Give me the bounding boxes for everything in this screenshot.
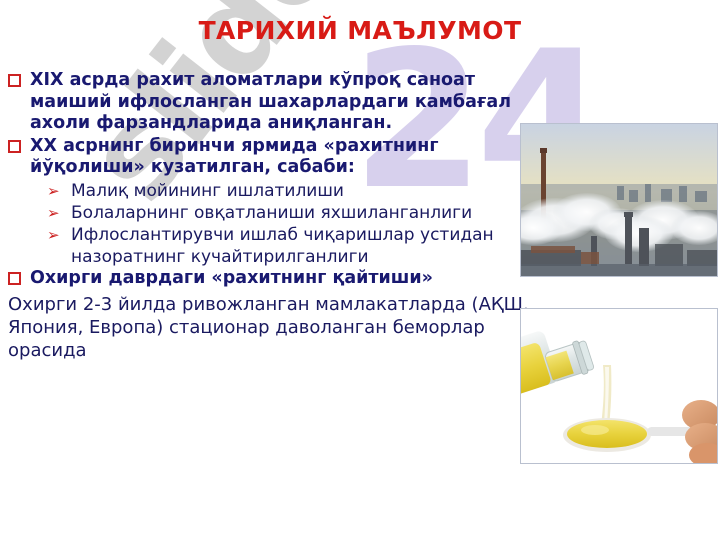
bullet-item-2: ХХ асрнинг биринчи ярмида «рахитнинг йўқ… [0, 136, 540, 179]
cod-liver-oil-photo [520, 308, 718, 464]
oil-pouring-illustration [521, 309, 717, 463]
sub-bullet-item-2: ➢ Болаларнинг овқатланиши яхшиланганлиги [0, 202, 540, 224]
closing-paragraph: Охирги 2-3 йилда ривожланган мамлакатлар… [0, 293, 540, 362]
bullet-item-2-label: ХХ асрнинг биринчи ярмида «рахитнинг йўқ… [30, 136, 540, 179]
pollution-illustration [521, 124, 717, 276]
arrow-bullet-icon: ➢ [47, 224, 63, 246]
bullet-item-3-label: Охирги даврдаги «рахитнинг қайтиши» [30, 268, 540, 290]
sub-bullet-item-2-label: Болаларнинг овқатланиши яхшиланганлиги [71, 202, 540, 224]
sub-bullet-item-3-label: Ифлослантирувчи ишлаб чиқаришлар устидан… [71, 224, 540, 268]
arrow-bullet-icon: ➢ [47, 202, 63, 224]
sub-bullet-item-1-label: Малиқ мойининг ишлатилиши [71, 180, 540, 202]
sub-bullet-item-3: ➢ Ифлослантирувчи ишлаб чиқаришлар устид… [0, 224, 540, 268]
presentation-slide: 24 slideshare ТАРИХИЙ МАЪЛУМОТ XIX асрда… [0, 0, 720, 540]
square-bullet-icon [8, 74, 21, 87]
square-bullet-icon [8, 140, 21, 153]
square-bullet-icon [8, 272, 21, 285]
industrial-pollution-photo [520, 123, 718, 277]
bullet-item-1-label: XIX асрда рахит аломатлари кўпроқ саноат… [30, 70, 540, 135]
arrow-bullet-icon: ➢ [47, 180, 63, 202]
slide-body: XIX асрда рахит аломатлари кўпроқ саноат… [0, 70, 540, 362]
slide-title: ТАРИХИЙ МАЪЛУМОТ [0, 16, 720, 45]
sub-bullet-item-1: ➢ Малиқ мойининг ишлатилиши [0, 180, 540, 202]
bullet-item-3: Охирги даврдаги «рахитнинг қайтиши» [0, 268, 540, 290]
bullet-item-1: XIX асрда рахит аломатлари кўпроқ саноат… [0, 70, 540, 135]
